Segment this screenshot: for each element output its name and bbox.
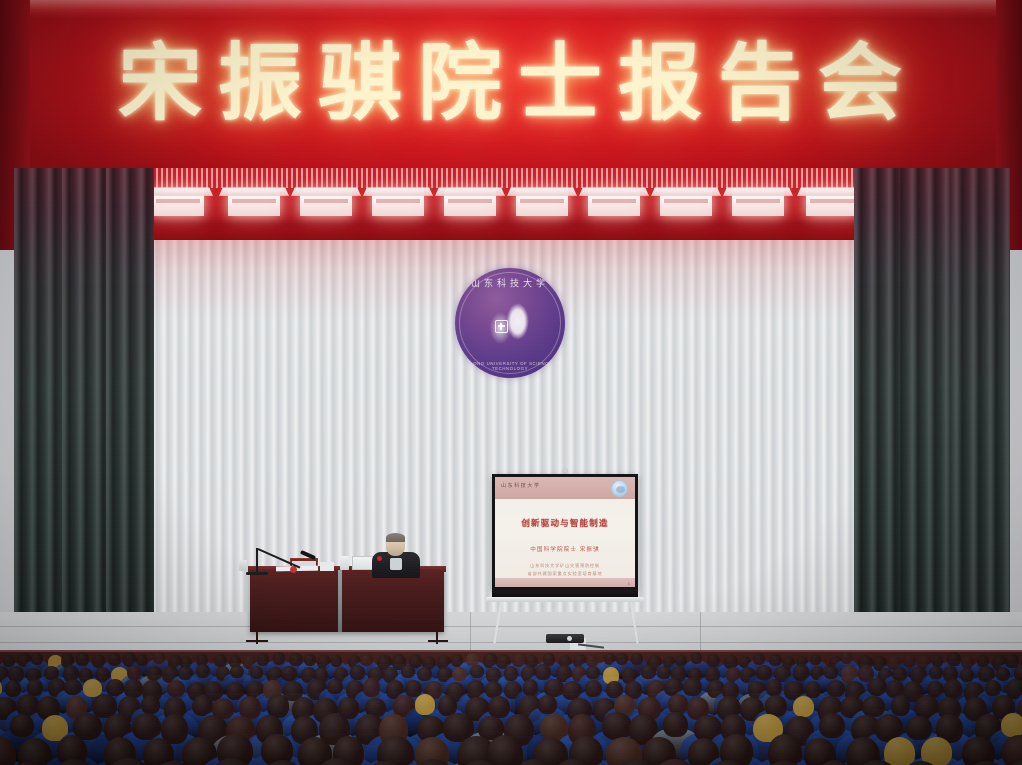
- audience-member-head: [1001, 713, 1022, 737]
- audience-member-head: [136, 654, 148, 666]
- stage-curtain-left-inner: [106, 168, 154, 638]
- slide-logo-icon: [611, 480, 628, 497]
- university-emblem-icon: 山东科技大学 SHANDONG UNIVERSITY OF SCIENCE AN…: [455, 268, 565, 378]
- audience-member-head: [585, 680, 602, 697]
- projection-screen: 山东科技大学 创新驱动与智能制造 中国科学院院士 宋振骐 山东科技大学矿山灾害预…: [492, 474, 638, 590]
- audience-member-head: [363, 678, 380, 696]
- audience-member-head: [267, 694, 289, 717]
- audience-member-head: [793, 696, 814, 717]
- student-audience: [0, 652, 1022, 765]
- microphone-base: [246, 572, 268, 575]
- audience-member-head: [273, 652, 285, 664]
- audience-member-head: [756, 665, 772, 680]
- stage-light-icon: [228, 190, 280, 216]
- audience-member-head: [250, 666, 264, 679]
- audience-member-head: [586, 655, 599, 667]
- audience-member-head: [76, 652, 89, 665]
- audience-member-head: [944, 679, 962, 698]
- audience-member-head: [691, 652, 703, 664]
- valance-fringe: [26, 168, 996, 188]
- stage-valance: [26, 168, 996, 240]
- event-banner-title: 宋振骐院士报告会: [0, 28, 1022, 138]
- audience-member-head: [487, 735, 523, 765]
- audience-member-head: [5, 680, 22, 698]
- projector-lens-icon: [567, 636, 572, 641]
- slide-header-text: 山东科技大学: [501, 482, 541, 489]
- presenter-shirt: [390, 558, 402, 570]
- audience-member-head: [891, 695, 911, 716]
- table-divider: [338, 570, 342, 632]
- audience-member-head: [707, 654, 719, 668]
- audience-member-head: [31, 653, 43, 665]
- audience-member-head: [862, 696, 885, 717]
- table-foot: [246, 640, 268, 642]
- audience-member-head: [753, 653, 765, 666]
- emblem-flame-shape: [486, 298, 534, 350]
- audience-member-head: [884, 737, 915, 765]
- slide-page-number: 1: [628, 581, 630, 586]
- audience-member-head: [903, 654, 916, 667]
- stage-light-icon: [660, 190, 712, 216]
- stage-light-icon: [444, 190, 496, 216]
- audience-member-head: [523, 679, 539, 696]
- audience-member-head: [230, 665, 244, 678]
- audience-member-head: [535, 664, 550, 680]
- audience-member-head: [304, 654, 316, 666]
- audience-member-head: [350, 665, 365, 680]
- audience-member-head: [466, 653, 479, 666]
- audience-member-head: [841, 652, 853, 664]
- audience-member-head: [360, 654, 373, 666]
- stage-light-icon: [372, 190, 424, 216]
- stage-light-icon: [588, 190, 640, 216]
- audience-member-head: [196, 664, 210, 678]
- desk-cup-right: [340, 556, 349, 570]
- stage-light-icon: [516, 190, 568, 216]
- audience-member-head: [824, 666, 838, 679]
- slide-subtitle: 中国科学院院士 宋振骐: [495, 545, 635, 553]
- stage-light-icon: [806, 190, 858, 216]
- microphone-stand-post: [256, 548, 258, 574]
- audience-member-head: [586, 666, 600, 679]
- valance-shadow-line: [26, 222, 996, 226]
- audience-member-head: [141, 695, 160, 715]
- slide-affiliation-line-1: 山东科技大学矿山灾害预防控制: [495, 563, 635, 569]
- emblem-english-text: SHANDONG UNIVERSITY OF SCIENCE AND TECHN…: [455, 361, 565, 371]
- audience-member-head: [663, 712, 687, 737]
- audience-member-head: [819, 713, 845, 738]
- audience-member-head: [167, 680, 184, 698]
- stage-light-icon: [732, 190, 784, 216]
- audience-member-head: [470, 665, 483, 678]
- projection-screen-surface: 山东科技大学 创新驱动与智能制造 中国科学院院士 宋振骐 山东科技大学矿山灾害预…: [495, 477, 635, 587]
- floor-projector: [546, 634, 584, 643]
- audience-member-head: [766, 679, 782, 696]
- audience-member-head: [331, 655, 343, 667]
- stage-light-icon: [300, 190, 352, 216]
- floor-seam: [0, 626, 1022, 627]
- audience-member-head: [892, 667, 907, 681]
- audience-member-head: [947, 652, 961, 666]
- audience-member-head: [668, 694, 688, 713]
- lecture-hall-photo: 山东科技大学 SHANDONG UNIVERSITY OF SCIENCE AN…: [0, 0, 1022, 765]
- stage-light-icon: [152, 190, 204, 216]
- audience-member-head: [417, 667, 432, 682]
- screen-weight-bar: [492, 590, 638, 597]
- audience-member-head: [631, 653, 643, 665]
- audience-member-head: [683, 678, 702, 696]
- stage-curtain-right-inner: [854, 168, 900, 638]
- audience-member-head: [538, 695, 558, 715]
- audience-member-head: [281, 666, 297, 681]
- audience-member-head: [769, 654, 782, 667]
- audience-member-head: [985, 680, 1001, 696]
- slide-title: 创新驱动与智能制造: [495, 517, 635, 529]
- slide-footer-bar: [495, 578, 635, 587]
- presenter-hair: [386, 533, 405, 542]
- audience-member-head: [10, 714, 34, 737]
- presenter-badge: [377, 556, 382, 561]
- desk-cup-left: [239, 560, 247, 571]
- emblem-cross-icon: [495, 320, 508, 333]
- audience-member-head: [810, 655, 821, 666]
- presenter-table: [250, 570, 444, 632]
- audience-member-head: [401, 665, 415, 678]
- table-foot: [428, 640, 448, 642]
- audience-member-head: [327, 679, 343, 694]
- audience-member-head: [827, 680, 845, 697]
- screen-roller-case: [486, 597, 644, 602]
- audience-member-head: [153, 652, 165, 664]
- slide-affiliation-line-2: 省部共建国家重点实验室培育基地: [495, 571, 635, 577]
- emblem-chinese-text: 山东科技大学: [455, 275, 565, 289]
- stage-curtain-right-mid: [894, 168, 950, 646]
- desk-box-center: [320, 562, 334, 571]
- floor-seam: [0, 642, 1022, 643]
- proscenium-top-sheen: [0, 0, 1022, 18]
- audience-member-head: [488, 696, 509, 719]
